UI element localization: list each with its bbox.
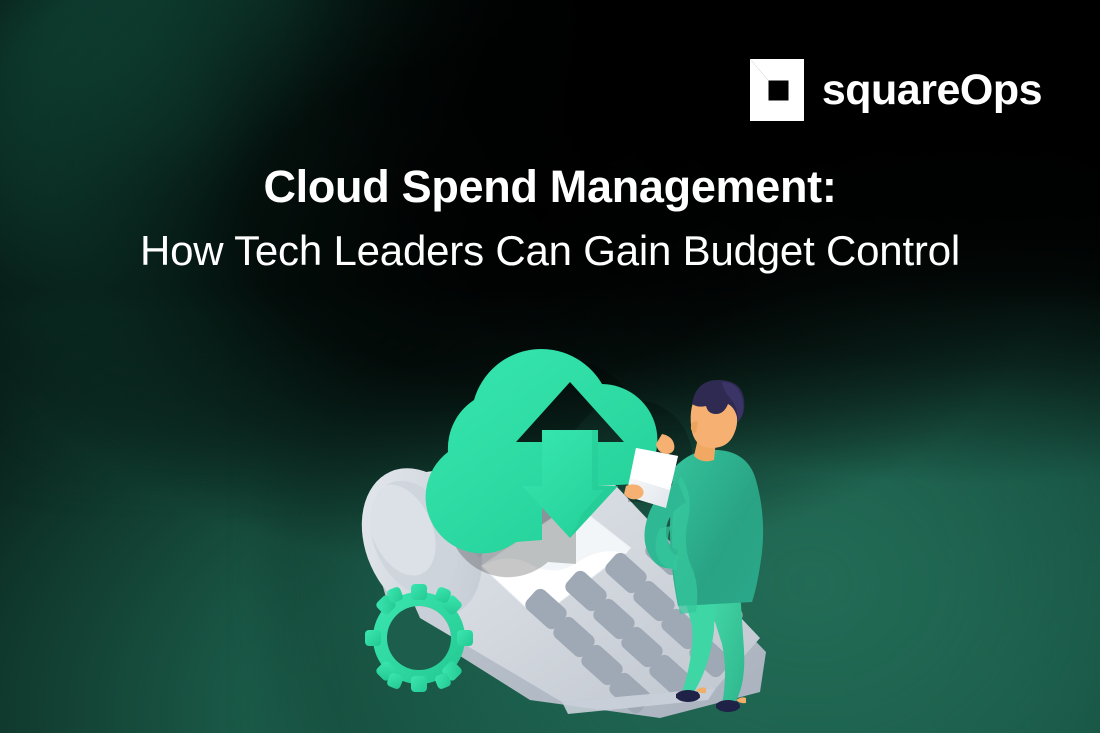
headline-block: Cloud Spend Management: How Tech Leaders… bbox=[0, 160, 1100, 276]
brand-logo[interactable]: squareOps bbox=[748, 57, 1042, 123]
cover-canvas: squareOps Cloud Spend Management: How Te… bbox=[0, 0, 1100, 733]
hero-illustration bbox=[330, 300, 790, 733]
headline-primary: Cloud Spend Management: bbox=[0, 160, 1100, 213]
cloud-spend-illustration-svg bbox=[330, 300, 790, 733]
brand-wordmark: squareOps bbox=[822, 69, 1042, 112]
headline-secondary: How Tech Leaders Can Gain Budget Control bbox=[0, 225, 1100, 276]
squareops-logo-mark-icon bbox=[748, 57, 806, 123]
